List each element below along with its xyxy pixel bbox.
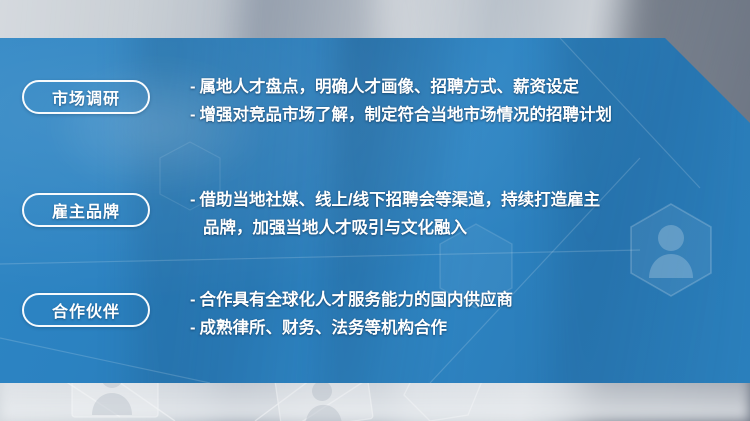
bullet-text: 合作具有全球化人才服务能力的国内供应商	[200, 291, 514, 309]
bullet-line: -合作具有全球化人才服务能力的国内供应商	[190, 286, 513, 314]
bullet-line: -增强对竞品市场了解，制定符合当地市场情况的招聘计划	[190, 101, 612, 129]
bullet-text: 借助当地社媒、线上/线下招聘会等渠道，持续打造雇主	[200, 191, 601, 209]
bullet-line-continuation: 品牌，加强当地人才吸引与文化融入	[190, 214, 600, 242]
slide-root: 市场调研 -属地人才盘点，明确人才画像、招聘方式、薪资设定 -增强对竞品市场了解…	[0, 0, 750, 421]
bullet-dash: -	[190, 319, 196, 337]
pill-employer-brand[interactable]: 雇主品牌	[22, 193, 150, 227]
text-block-partners: -合作具有全球化人才服务能力的国内供应商 -成熟律所、财务、法务等机构合作	[190, 286, 513, 342]
pill-partners[interactable]: 合作伙伴	[22, 293, 150, 327]
bullet-dash: -	[190, 78, 196, 96]
bullet-dash: -	[190, 191, 196, 209]
bullet-text: 属地人才盘点，明确人才画像、招聘方式、薪资设定	[200, 78, 580, 96]
bullet-text: 增强对竞品市场了解，制定符合当地市场情况的招聘计划	[200, 106, 613, 124]
pill-market-research[interactable]: 市场调研	[22, 80, 150, 114]
text-block-employer-brand: -借助当地社媒、线上/线下招聘会等渠道，持续打造雇主 品牌，加强当地人才吸引与文…	[190, 186, 600, 242]
bullet-text: 成熟律所、财务、法务等机构合作	[200, 319, 448, 337]
pill-label: 合作伙伴	[52, 298, 120, 322]
bullet-dash: -	[190, 106, 196, 124]
pill-label: 雇主品牌	[52, 198, 120, 222]
bullet-dash: -	[190, 291, 196, 309]
bullet-line: -成熟律所、财务、法务等机构合作	[190, 314, 513, 342]
bullet-line: -借助当地社媒、线上/线下招聘会等渠道，持续打造雇主	[190, 186, 600, 214]
content-rows: 市场调研 -属地人才盘点，明确人才画像、招聘方式、薪资设定 -增强对竞品市场了解…	[0, 38, 750, 383]
pill-label: 市场调研	[52, 85, 120, 109]
text-block-market-research: -属地人才盘点，明确人才画像、招聘方式、薪资设定 -增强对竞品市场了解，制定符合…	[190, 73, 612, 129]
bullet-line: -属地人才盘点，明确人才画像、招聘方式、薪资设定	[190, 73, 612, 101]
bullet-text: 品牌，加强当地人才吸引与文化融入	[203, 219, 467, 237]
